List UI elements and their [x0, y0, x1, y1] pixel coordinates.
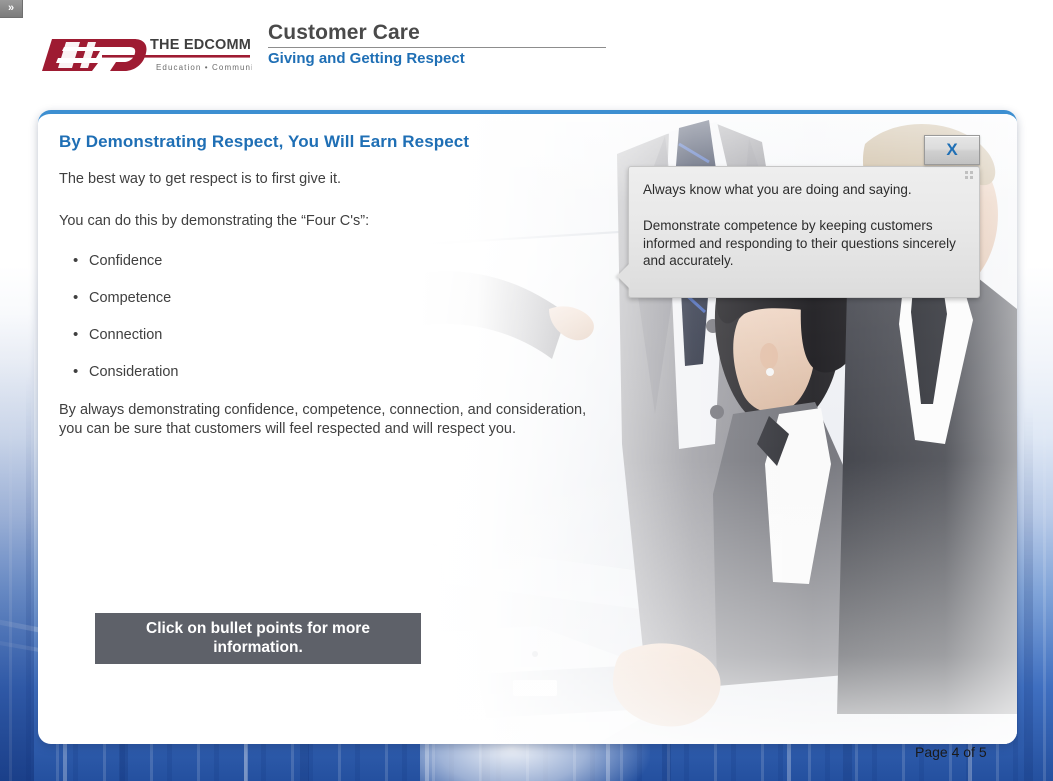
course-player-stage: » THE EDCOMM GROUP Education — [0, 0, 1053, 781]
svg-text:Education • Communication: Education • Communication — [156, 63, 252, 72]
course-title: Customer Care — [268, 21, 420, 45]
background-left-column — [0, 0, 34, 781]
resize-grip-icon[interactable] — [965, 171, 974, 180]
close-popup-button[interactable]: X — [924, 135, 980, 165]
header-divider — [268, 47, 606, 48]
page-indicator: Page 4 of 5 — [915, 744, 987, 760]
course-header: THE EDCOMM GROUP Education • Communicati… — [0, 17, 1053, 95]
edcomm-group-logo: THE EDCOMM GROUP Education • Communicati… — [40, 33, 252, 77]
tooltip-paragraph-2: Demonstrate competence by keeping custom… — [643, 217, 963, 270]
page-title: By Demonstrating Respect, You Will Earn … — [59, 132, 619, 152]
bullet-consideration[interactable]: Consideration — [59, 364, 619, 380]
intro-paragraph-2: You can do this by demonstrating the “Fo… — [59, 212, 619, 232]
svg-text:THE EDCOMM GROUP: THE EDCOMM GROUP — [150, 37, 252, 53]
intro-paragraph-1: The best way to get respect is to first … — [59, 170, 619, 190]
tooltip-pointer — [617, 263, 630, 289]
sidebar-expand-button[interactable]: » — [0, 0, 23, 18]
tooltip-paragraph-1: Always know what you are doing and sayin… — [643, 181, 963, 199]
lesson-title: Giving and Getting Respect — [268, 50, 465, 67]
bullet-competence[interactable]: Competence — [59, 290, 619, 306]
bullet-confidence[interactable]: Confidence — [59, 253, 619, 269]
instruction-banner: Click on bullet points for more informat… — [95, 613, 421, 664]
four-cs-list: Confidence Competence Connection Conside… — [59, 253, 619, 380]
bullet-connection[interactable]: Connection — [59, 327, 619, 343]
closing-paragraph: By always demonstrating confidence, comp… — [59, 401, 587, 440]
competence-tooltip: Always know what you are doing and sayin… — [628, 166, 980, 298]
lesson-content: By Demonstrating Respect, You Will Earn … — [59, 132, 619, 440]
